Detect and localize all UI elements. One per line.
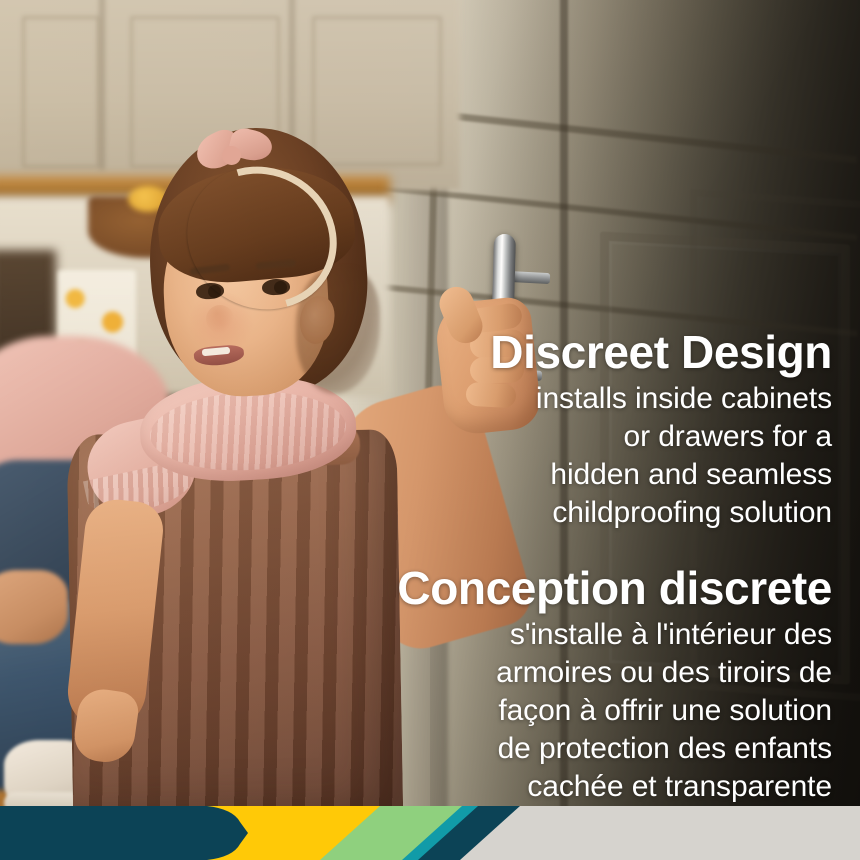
subcopy-line: de protection des enfants xyxy=(272,730,832,768)
adult-hand xyxy=(0,570,68,644)
pink-bow-knot xyxy=(222,146,241,165)
brand-color-bar xyxy=(0,806,860,860)
subcopy-english: installs inside cabinets or drawers for … xyxy=(272,380,832,532)
cabinet-panel xyxy=(22,16,100,168)
headline-english: Discreet Design xyxy=(272,326,832,378)
copy-block-english: Discreet Design installs inside cabinets… xyxy=(272,326,832,532)
subcopy-line: s'installe à l'intérieur des xyxy=(272,616,832,654)
subcopy-line: childproofing solution xyxy=(272,494,832,532)
cabinet-panel xyxy=(312,16,442,166)
child-nose xyxy=(206,305,234,333)
copy-block-french: Conception discrete s'installe à l'intér… xyxy=(272,562,832,806)
stripe-navy-chevron xyxy=(0,806,248,860)
subcopy-line: or drawers for a xyxy=(272,418,832,456)
subcopy-line: armoires ou des tiroirs de xyxy=(272,654,832,692)
subcopy-line: installs inside cabinets xyxy=(272,380,832,418)
headline-french: Conception discrete xyxy=(272,562,832,614)
subcopy-line: cachée et transparente xyxy=(272,768,832,806)
subcopy-line: façon à offrir une solution xyxy=(272,692,832,730)
product-feature-poster: Discreet Design installs inside cabinets… xyxy=(0,0,860,860)
subcopy-french: s'installe à l'intérieur des armoires ou… xyxy=(272,616,832,806)
subcopy-line: hidden and seamless xyxy=(272,456,832,494)
marketing-copy: Discreet Design installs inside cabinets… xyxy=(272,326,832,806)
